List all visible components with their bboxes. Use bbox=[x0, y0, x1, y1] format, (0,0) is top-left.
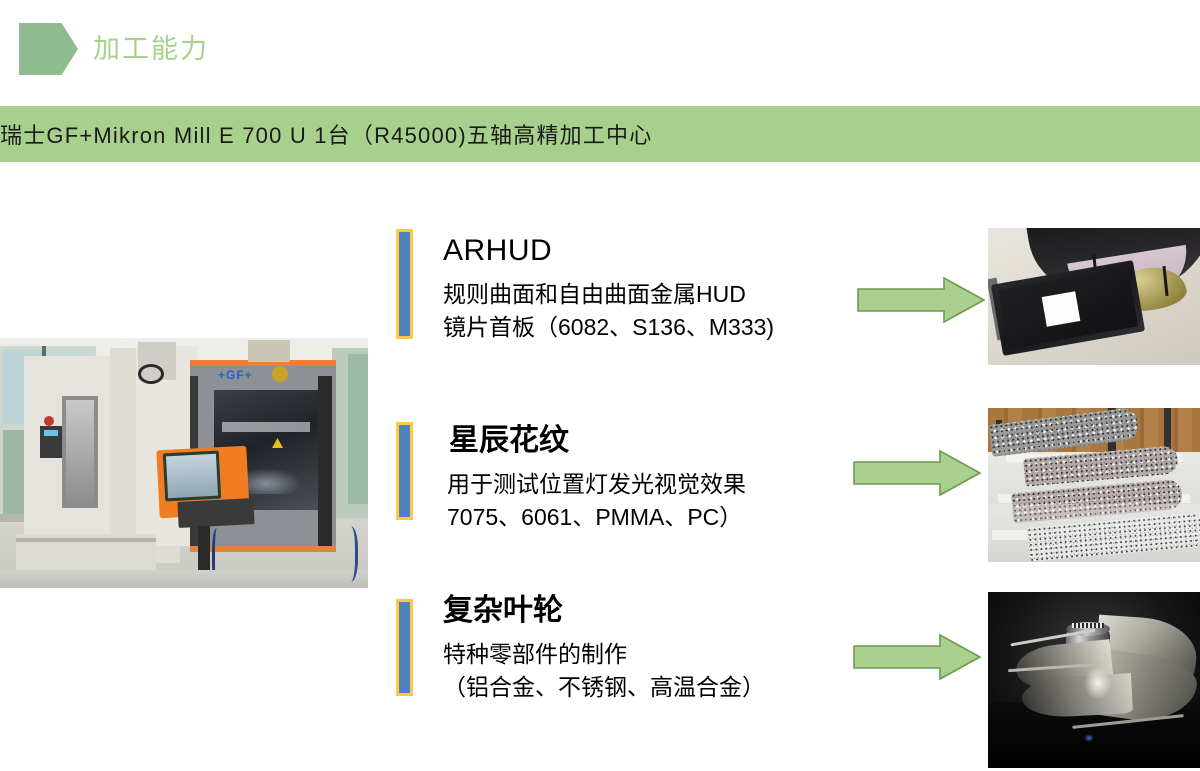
arrow-right-icon bbox=[852, 632, 982, 682]
impeller-specular-highlight bbox=[1084, 666, 1112, 700]
slide-header: 加工能力 bbox=[0, 0, 1200, 100]
product-image-arhud bbox=[988, 228, 1200, 365]
table-gloss bbox=[988, 504, 1200, 562]
row-accent-bar bbox=[396, 599, 413, 696]
row-heading: ARHUD bbox=[443, 232, 552, 270]
product-image-impeller bbox=[988, 592, 1200, 768]
arrow-right-icon bbox=[856, 275, 986, 325]
row-description: 规则曲面和自由曲面金属HUD 镜片首板（6082、S136、M333) bbox=[443, 278, 774, 344]
impeller-blue-glint bbox=[1084, 734, 1094, 742]
row-description-line: 特种零部件的制作 bbox=[443, 638, 765, 671]
backdrop-slot bbox=[1164, 408, 1171, 448]
impeller-hub-teeth bbox=[1072, 623, 1104, 628]
product-image-star-pattern bbox=[988, 408, 1200, 562]
row-description-line: 7075、6061、PMMA、PC） bbox=[447, 501, 746, 534]
row-description-line: （铝合金、不锈钢、高温合金） bbox=[443, 671, 765, 704]
section-title-band: 瑞士GF+Mikron Mill E 700 U 1台（R45000)五轴高精加… bbox=[0, 106, 1200, 162]
row-heading: 星辰花纹 bbox=[449, 422, 569, 460]
row-accent-bar bbox=[396, 422, 413, 520]
row-description-line: 镜片首板（6082、S136、M333) bbox=[443, 311, 774, 344]
row-description: 用于测试位置灯发光视觉效果 7075、6061、PMMA、PC） bbox=[447, 468, 746, 534]
row-description-line: 用于测试位置灯发光视觉效果 bbox=[447, 468, 746, 501]
section-title-text: 瑞士GF+Mikron Mill E 700 U 1台（R45000)五轴高精加… bbox=[0, 106, 652, 162]
page-title: 加工能力 bbox=[93, 29, 209, 69]
slide-root: 加工能力 瑞士GF+Mikron Mill E 700 U 1台（R45000)… bbox=[0, 0, 1200, 771]
row-heading: 复杂叶轮 bbox=[443, 592, 563, 630]
row-description: 特种零部件的制作 （铝合金、不锈钢、高温合金） bbox=[443, 638, 765, 704]
arrow-right-icon bbox=[852, 448, 982, 498]
lens-specular-highlight bbox=[1042, 291, 1081, 326]
row-accent-bar bbox=[396, 229, 413, 339]
chevron-right-icon bbox=[19, 23, 78, 75]
row-description-line: 规则曲面和自由曲面金属HUD bbox=[443, 278, 774, 311]
